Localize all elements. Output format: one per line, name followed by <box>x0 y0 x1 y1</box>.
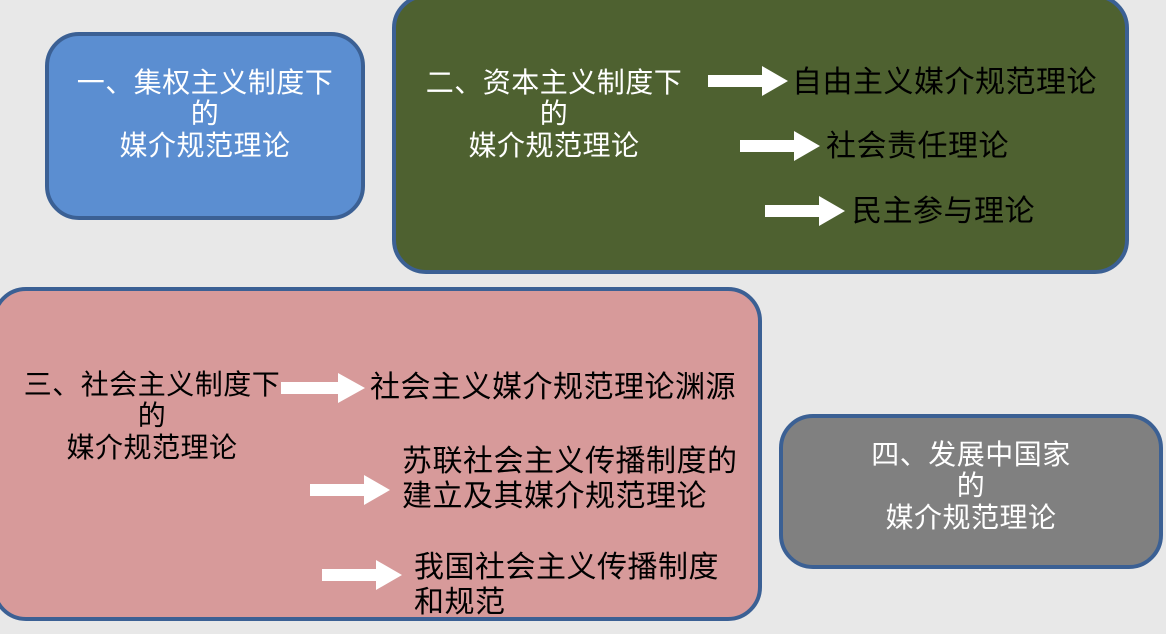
box-developing-countries-title: 四、发展中国家的媒介规范理论 <box>789 440 1153 534</box>
right-block-arrow-capitalism-3 <box>765 196 845 226</box>
box-socialist-line1: 三、社会主义制度下 <box>24 370 281 401</box>
right-block-arrow-capitalism-2 <box>740 131 820 161</box>
right-block-arrow-socialism-2 <box>310 475 390 505</box>
box-capitalist-title: 二、资本主义制度下的媒介规范理论 <box>404 68 704 162</box>
right-block-arrow-socialism-1 <box>281 373 365 403</box>
box-authoritarian-line2: 的 <box>191 99 220 130</box>
box-developing-line2: 的 <box>957 471 986 502</box>
capitalism-branch-label-1: 自由主义媒介规范理论 <box>792 66 1097 101</box>
box-developing-line3: 媒介规范理论 <box>885 503 1056 534</box>
box-developing-line1: 四、发展中国家 <box>871 440 1071 471</box>
box-capitalist-line3: 媒介规范理论 <box>468 131 639 162</box>
socialism-branch-label-1: 社会主义媒介规范理论渊源 <box>370 371 736 406</box>
slide-canvas: 一、集权主义制度下的媒介规范理论 二、资本主义制度下的媒介规范理论 自由主义媒介… <box>0 0 1166 634</box>
capitalism-branch-label-2: 社会责任理论 <box>826 130 1009 165</box>
box-socialist-line2: 的 <box>138 401 167 432</box>
right-block-arrow-socialism-3 <box>322 560 402 590</box>
right-block-arrow-capitalism-1 <box>708 66 788 96</box>
box-authoritarian-line1: 一、集权主义制度下 <box>77 68 334 99</box>
socialism-branch-label-2: 苏联社会主义传播制度的 建立及其媒介规范理论 <box>402 445 738 515</box>
box-authoritarian-line3: 媒介规范理论 <box>119 131 290 162</box>
box-authoritarian-title: 一、集权主义制度下的媒介规范理论 <box>55 68 355 162</box>
box-capitalist-line1: 二、资本主义制度下 <box>426 68 683 99</box>
box-socialist-title: 三、社会主义制度下的媒介规范理论 <box>8 370 296 464</box>
box-capitalist-line2: 的 <box>540 99 569 130</box>
capitalism-branch-label-3: 民主参与理论 <box>852 195 1035 230</box>
socialism-branch-label-3: 我国社会主义传播制度 和规范 <box>414 551 719 621</box>
box-socialist-line3: 媒介规范理论 <box>66 433 237 464</box>
